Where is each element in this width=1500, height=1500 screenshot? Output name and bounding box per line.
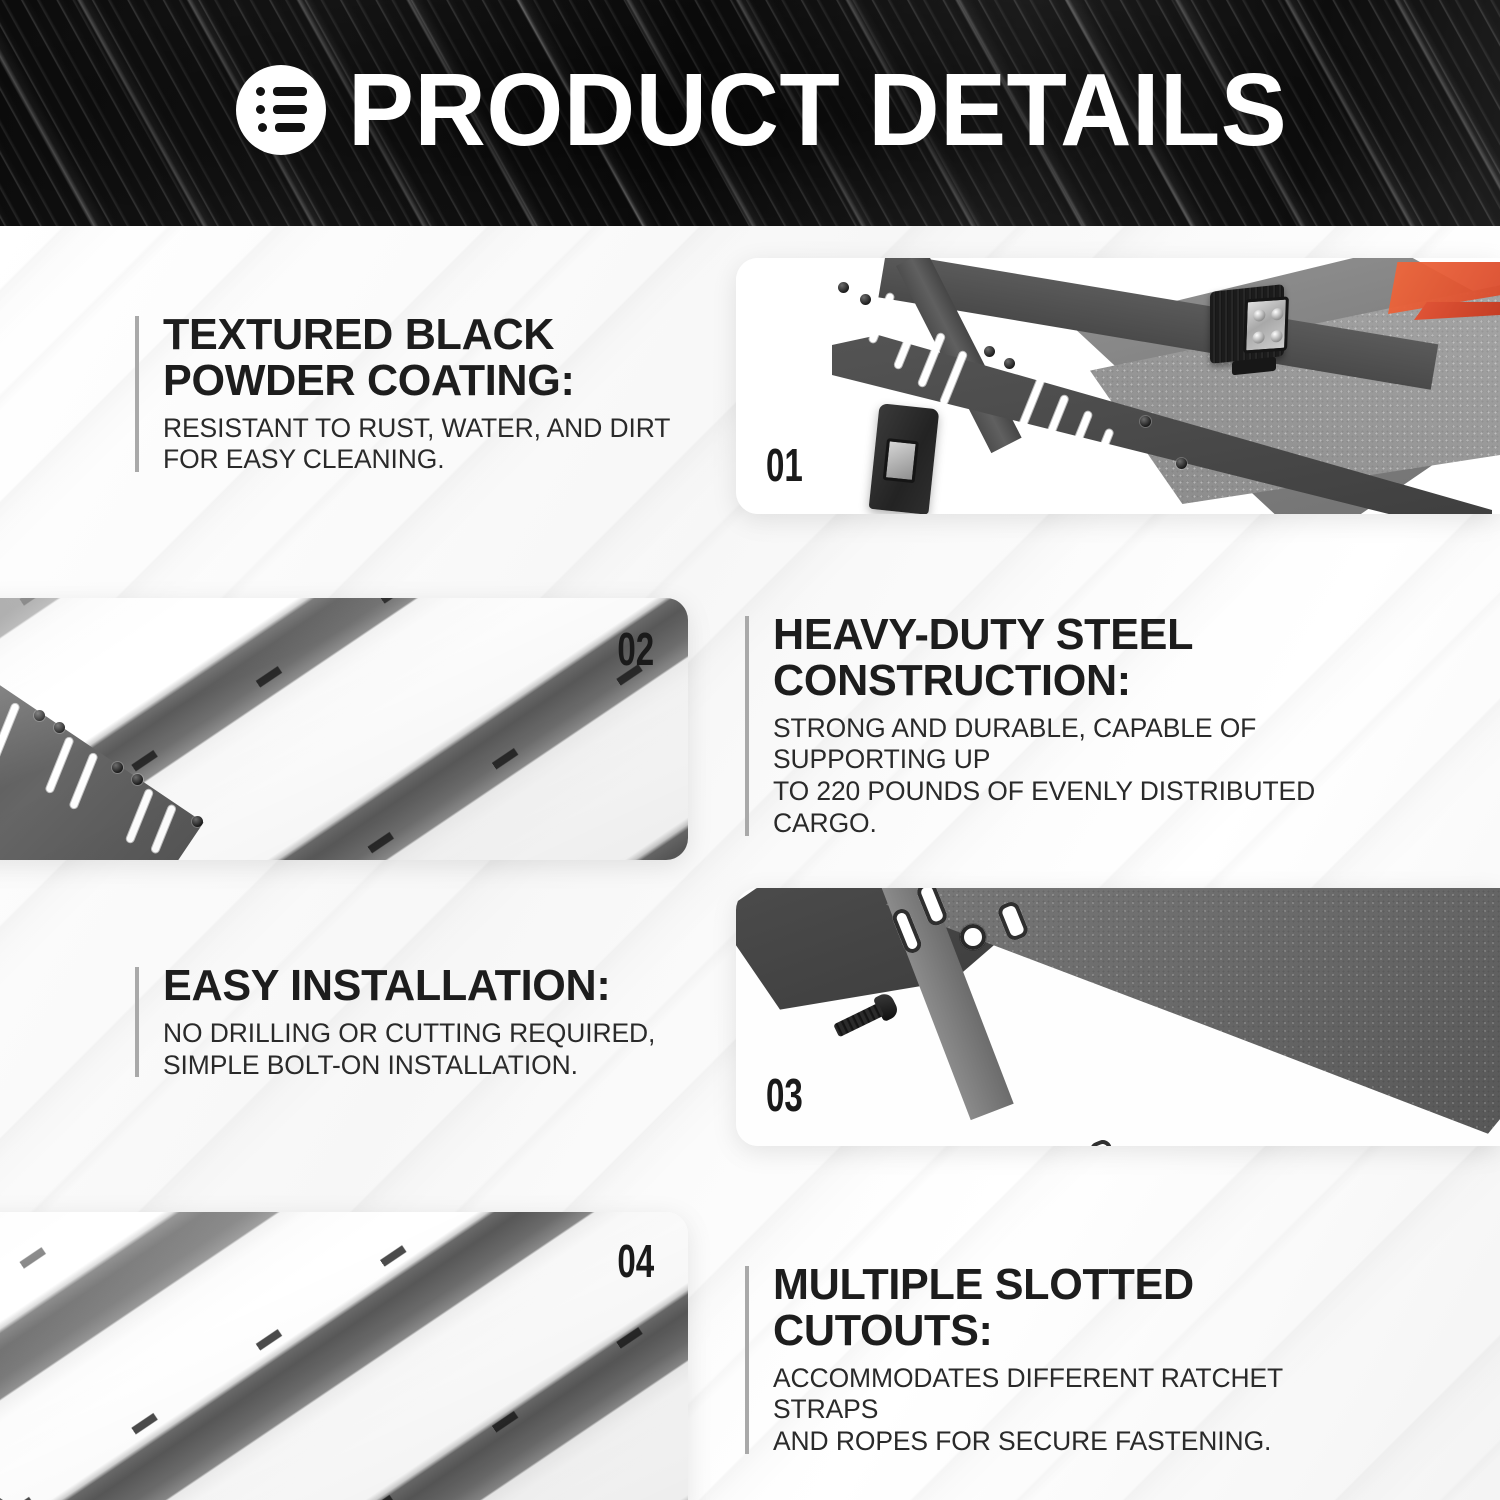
list-bullet-dot <box>256 105 265 114</box>
feature-block-heavy-duty-steel-construction: HEAVY-DUTY STEEL CONSTRUCTION: STRONG AN… <box>745 612 1425 840</box>
product-image-panel-02: 02 <box>0 598 688 860</box>
page-title: PRODUCT DETAILS <box>348 58 1287 161</box>
panel-number-01: 01 <box>766 438 803 492</box>
panel-number-03: 03 <box>766 1068 803 1122</box>
feature-heading: HEAVY-DUTY STEEL CONSTRUCTION: <box>773 612 1412 704</box>
led-lens <box>1243 296 1289 353</box>
list-icon-row-2 <box>256 105 307 114</box>
led-cube-light <box>1210 288 1284 360</box>
feature-body: RESISTANT TO RUST, WATER, AND DIRT FOR E… <box>163 413 684 477</box>
feature-heading: MULTIPLE SLOTTED CUTOUTS: <box>773 1262 1373 1354</box>
list-bullet-line <box>273 105 307 114</box>
feature-heading: TEXTURED BLACK POWDER COATING: <box>163 312 684 404</box>
feature-body: STRONG AND DURABLE, CAPABLE OF SUPPORTIN… <box>773 713 1412 840</box>
header-banner: PRODUCT DETAILS <box>0 0 1500 226</box>
bolt-hole <box>1140 416 1151 427</box>
bolt-hole <box>1176 458 1187 469</box>
list-bullet-dot <box>256 87 265 96</box>
led-diode <box>1270 330 1282 343</box>
product-details-infographic: PRODUCT DETAILS <box>0 0 1500 1500</box>
feature-block-easy-installation: EASY INSTALLATION: NO DRILLING OR CUTTIN… <box>135 963 695 1081</box>
panel-shading <box>0 598 688 860</box>
led-diode <box>1271 308 1283 321</box>
feature-block-textured-black-powder-coating: TEXTURED BLACK POWDER COATING: RESISTANT… <box>135 312 695 476</box>
bulleted-list-icon <box>236 65 326 155</box>
feature-body: ACCOMMODATES DIFFERENT RATCHET STRAPS AN… <box>773 1363 1373 1459</box>
panel-number-02: 02 <box>617 622 654 676</box>
bolt-hole <box>860 294 871 305</box>
list-bullet-dot <box>258 123 267 132</box>
list-bullet-line <box>273 87 307 96</box>
product-image-panel-03: 03 <box>736 888 1500 1146</box>
feature-body: NO DRILLING OR CUTTING REQUIRED, SIMPLE … <box>163 1018 684 1082</box>
list-icon-row-3 <box>258 123 305 132</box>
product-image-panel-04: 04 <box>0 1212 688 1500</box>
led-diode <box>1252 331 1264 344</box>
list-bullet-line <box>275 123 305 132</box>
list-icon-row-1 <box>256 87 307 96</box>
mounting-bracket-illustration <box>736 888 1500 1146</box>
panel-number-04: 04 <box>617 1234 654 1288</box>
rack-corner-illustration <box>736 258 1500 514</box>
slotted-cutouts-illustration <box>0 1212 688 1500</box>
feature-heading: EASY INSTALLATION: <box>163 963 684 1009</box>
bolt-hole <box>960 924 986 950</box>
bolt-hole <box>838 282 849 293</box>
led-diode <box>1253 309 1265 322</box>
panel-shading <box>0 1212 688 1500</box>
feature-block-multiple-slotted-cutouts: MULTIPLE SLOTTED CUTOUTS: ACCOMMODATES D… <box>745 1262 1385 1458</box>
rack-deck-slats-illustration <box>0 598 688 860</box>
product-image-panel-01: 01 <box>736 258 1500 514</box>
header-content: PRODUCT DETAILS <box>236 58 1326 161</box>
rack-mount-clamp <box>869 403 940 514</box>
bolt-hole <box>984 346 995 357</box>
bolt-hole <box>1004 358 1015 369</box>
